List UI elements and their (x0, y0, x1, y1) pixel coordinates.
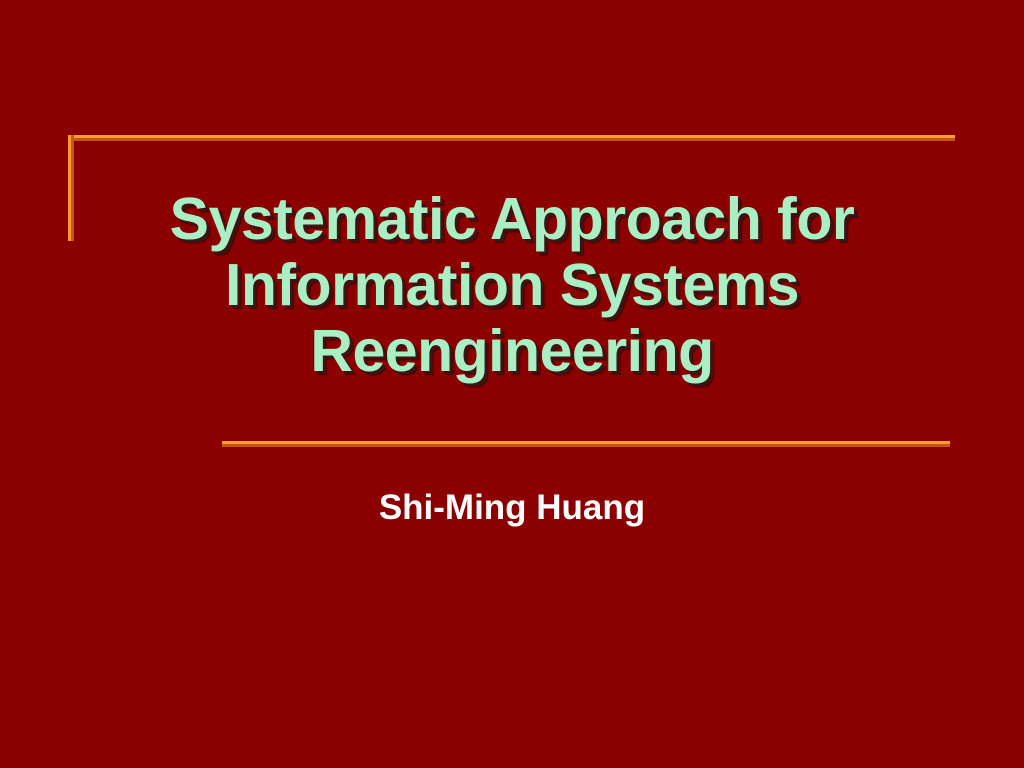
title-line-3: Reengineering (110, 318, 914, 384)
bracket-left-rule (68, 135, 71, 241)
slide-subtitle-author: Shi-Ming Huang (112, 487, 912, 529)
title-divider-rule (222, 441, 950, 444)
title-line-2: Information Systems (110, 252, 914, 318)
slide-title: Systematic Approach for Information Syst… (110, 186, 914, 384)
bracket-top-rule (68, 135, 955, 138)
title-line-1: Systematic Approach for (110, 186, 914, 252)
presentation-slide: Systematic Approach for Information Syst… (0, 0, 1024, 768)
